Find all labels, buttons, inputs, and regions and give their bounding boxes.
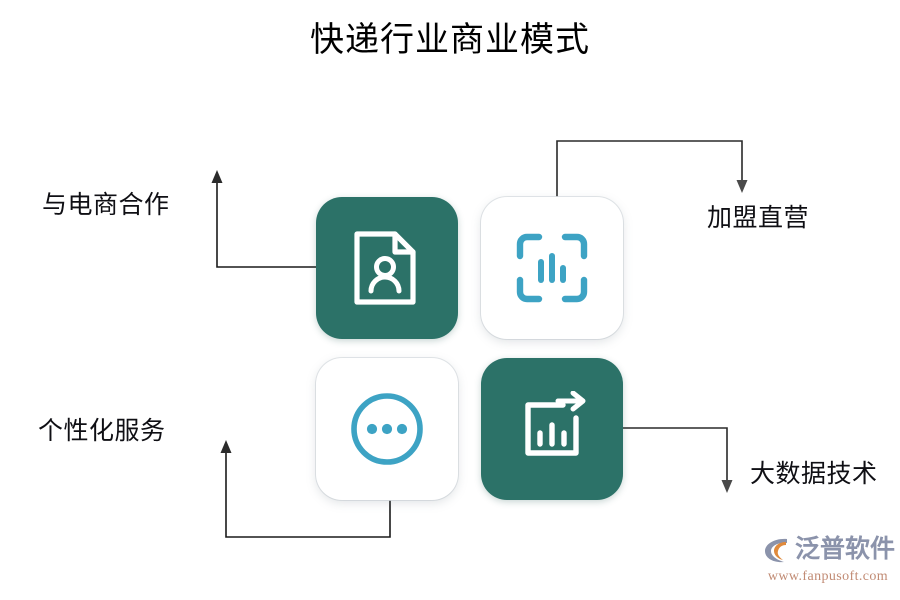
tile-franchise[interactable] [481,197,623,339]
fanpu-logo-icon [762,535,792,565]
bar-chart-arrow-icon [514,391,590,467]
diagram-canvas: 快递行业商业模式 [0,0,900,600]
watermark: 泛普软件 www.fanpusoft.com [762,533,894,591]
connector-ecommerce [212,170,317,267]
label-bigdata: 大数据技术 [750,459,878,491]
circle-ellipsis-icon [349,391,425,467]
connector-bigdata [623,428,733,493]
tile-bigdata[interactable] [481,358,623,500]
label-personalized: 个性化服务 [38,416,166,448]
label-ecommerce: 与电商合作 [42,190,170,222]
scan-bar-chart-icon [515,232,589,304]
tile-ecommerce[interactable] [316,197,458,339]
document-person-icon [351,229,423,307]
watermark-brand: 泛普软件 [795,535,895,565]
label-franchise: 加盟直营 [707,203,809,235]
tile-personalized[interactable] [316,358,458,500]
connector-franchise [557,141,748,197]
watermark-url: www.fanpusoft.com [762,568,894,586]
